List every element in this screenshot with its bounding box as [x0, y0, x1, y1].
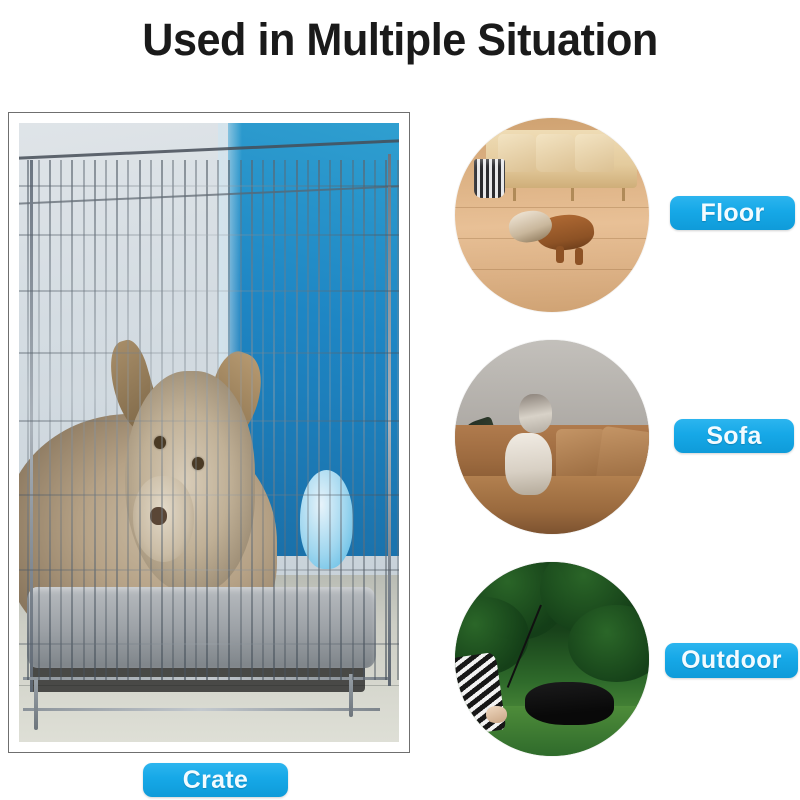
- sofa-seat: [455, 476, 649, 534]
- outdoor-scene: [455, 562, 649, 756]
- sofa-scene: [455, 340, 649, 534]
- situation-image-floor: [455, 118, 649, 312]
- product-infographic: Used in Multiple Situation: [0, 0, 800, 800]
- floor-cushion-2: [536, 134, 575, 173]
- floor-sofa-leg-2: [571, 188, 574, 202]
- situation-label-floor[interactable]: Floor: [670, 196, 795, 230]
- sofa-dog-head: [519, 394, 552, 433]
- floor-striped-bin: [474, 159, 505, 198]
- situation-image-sofa: [455, 340, 649, 534]
- floor-scene: [455, 118, 649, 312]
- floor-sofa-leg-3: [622, 188, 625, 202]
- outdoor-person-hand: [486, 706, 507, 723]
- outdoor-dog: [525, 682, 614, 725]
- crate-photo: [19, 123, 399, 742]
- floor-dog-leg-2: [575, 248, 583, 265]
- sofa-dog-body: [505, 433, 552, 495]
- floor-plank-1: [455, 207, 649, 208]
- page-title: Used in Multiple Situation: [16, 14, 784, 66]
- crate-dog-nose: [150, 507, 167, 526]
- floor-plank-3: [455, 269, 649, 270]
- crate-toy: [300, 470, 353, 569]
- floor-sofa-leg-1: [513, 188, 516, 202]
- main-photo-frame: [8, 112, 410, 753]
- floor-cushion-3: [575, 134, 614, 173]
- crate-cushion: [27, 587, 377, 667]
- situation-label-outdoor[interactable]: Outdoor: [665, 643, 798, 678]
- situation-label-crate[interactable]: Crate: [143, 763, 288, 797]
- crate-dog-eye-left: [154, 436, 166, 449]
- situation-image-outdoor: [455, 562, 649, 756]
- situation-label-sofa[interactable]: Sofa: [674, 419, 794, 453]
- floor-dog-leg-1: [556, 246, 564, 263]
